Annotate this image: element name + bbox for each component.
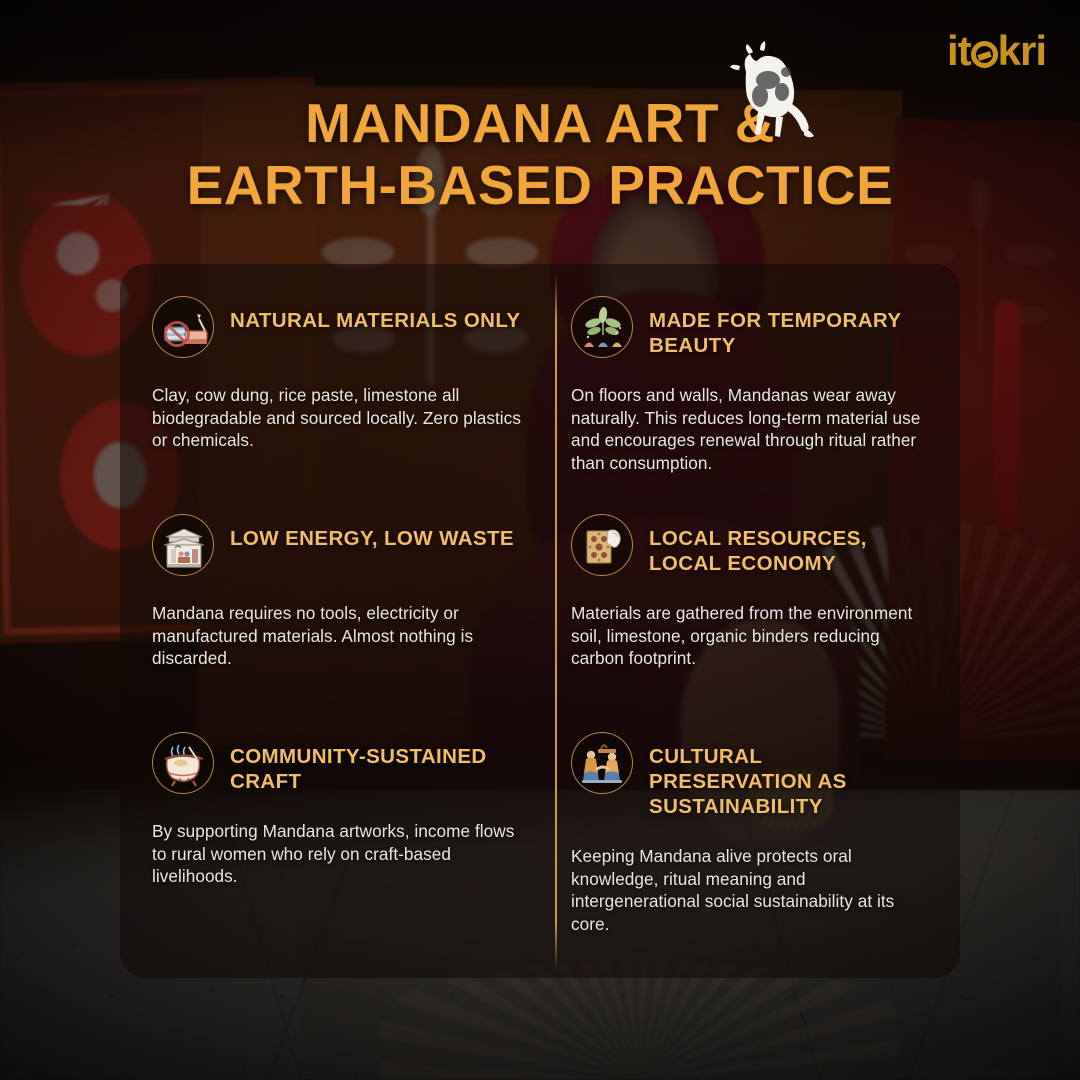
card-body: By supporting Mandana artworks, income f…: [152, 820, 525, 888]
village-house-icon: [152, 514, 214, 576]
hand-holding-block-print-icon: [571, 514, 633, 576]
title-line-1: MANDANA ART &: [0, 92, 1080, 154]
brand-logo[interactable]: itkri: [947, 30, 1046, 72]
no-chemicals-icon: [152, 296, 214, 358]
card-body: Mandana requires no tools, electricity o…: [152, 602, 525, 670]
card-header: NATURAL MATERIALS ONLY: [152, 302, 525, 358]
cow-motif-icon: [716, 32, 831, 142]
feature-card-made-for-temporary-beauty: MADE FOR TEMPORARY BEAUTY On floors and …: [555, 264, 960, 482]
card-header: COMMUNITY-SUSTAINED CRAFT: [152, 738, 525, 794]
features-grid: NATURAL MATERIALS ONLY Clay, cow dung, r…: [120, 264, 960, 978]
card-title: NATURAL MATERIALS ONLY: [230, 302, 521, 333]
logo-text-after: kri: [998, 27, 1046, 74]
cooking-pot-icon: [152, 732, 214, 794]
two-artisans-icon: [571, 732, 633, 794]
o-dot-icon: [971, 41, 998, 68]
card-title: MADE FOR TEMPORARY BEAUTY: [649, 302, 930, 358]
card-body: Materials are gathered from the environm…: [571, 602, 930, 670]
card-header: LOCAL RESOURCES, LOCAL ECONOMY: [571, 520, 930, 576]
card-title: LOCAL RESOURCES, LOCAL ECONOMY: [649, 520, 930, 576]
feature-card-local-resources-local-economy: LOCAL RESOURCES, LOCAL ECONOMY Materials…: [555, 482, 960, 700]
logo-text-before: it: [947, 27, 971, 74]
feature-card-natural-materials-only: NATURAL MATERIALS ONLY Clay, cow dung, r…: [120, 264, 555, 482]
card-title: COMMUNITY-SUSTAINED CRAFT: [230, 738, 525, 794]
card-header: MADE FOR TEMPORARY BEAUTY: [571, 302, 930, 358]
feature-card-cultural-preservation-as-sustainability: CULTURAL PRESERVATION AS SUSTAINABILITY …: [555, 700, 960, 940]
page-title: MANDANA ART & EARTH-BASED PRACTICE: [0, 92, 1080, 216]
card-body: Clay, cow dung, rice paste, limestone al…: [152, 384, 525, 452]
feature-card-community-sustained-craft: COMMUNITY-SUSTAINED CRAFT By supporting …: [120, 700, 555, 940]
infographic-poster: itkri MANDANA ART & EARTH-BASED PRACTICE: [0, 0, 1080, 1080]
card-header: LOW ENERGY, LOW WASTE: [152, 520, 525, 576]
card-body: Keeping Mandana alive protects oral know…: [571, 845, 930, 935]
title-line-2: EARTH-BASED PRACTICE: [0, 154, 1080, 216]
leaves-and-pigments-icon: [571, 296, 633, 358]
card-title: LOW ENERGY, LOW WASTE: [230, 520, 514, 551]
feature-card-low-energy-low-waste: LOW ENERGY, LOW WASTE Mandana requires n…: [120, 482, 555, 700]
card-title: CULTURAL PRESERVATION AS SUSTAINABILITY: [649, 738, 930, 819]
card-header: CULTURAL PRESERVATION AS SUSTAINABILITY: [571, 738, 930, 819]
card-body: On floors and walls, Mandanas wear away …: [571, 384, 930, 474]
